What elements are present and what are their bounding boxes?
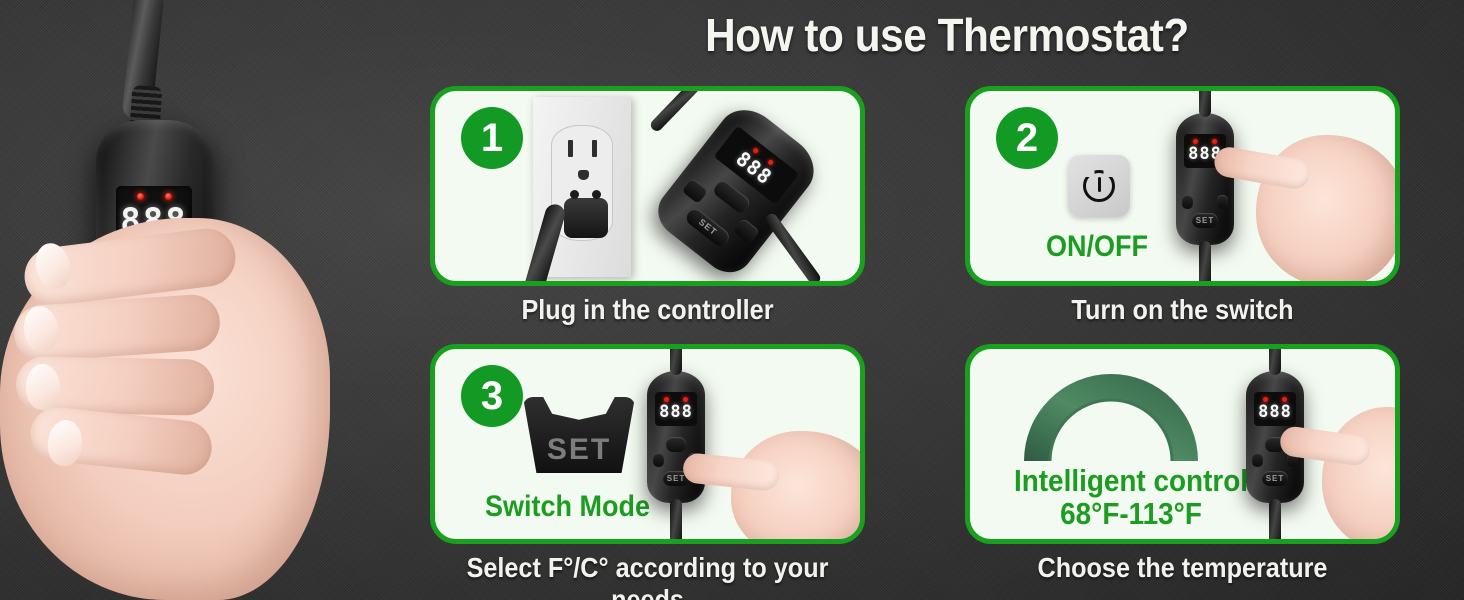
controller-set-button: SET — [1192, 213, 1218, 228]
power-bar — [1098, 177, 1101, 192]
step-1-card: 1 — [430, 86, 865, 286]
controller-down-button — [1252, 453, 1264, 468]
controller-display-value: 888 — [659, 404, 693, 421]
steps-row-top: 1 — [430, 86, 1440, 336]
led-indicator-icon — [137, 193, 144, 200]
controller-cord-lower — [1199, 241, 1211, 286]
step-2-caption: Turn on the switch — [987, 294, 1379, 326]
outlet-slot — [592, 140, 597, 157]
page-title: How to use Thermostat? — [471, 8, 1422, 62]
step-4: Intelligent control 68°F-113°F 888 SET — [965, 344, 1400, 600]
step-1: 1 — [430, 86, 865, 336]
step-3-inline-label: Switch Mode — [485, 491, 650, 523]
step-2-controller: 888 SET — [1176, 113, 1234, 245]
outlet-slot — [568, 140, 573, 157]
controller-down-button — [1182, 195, 1194, 210]
step-1-badge: 1 — [461, 107, 523, 169]
controller-down-button — [653, 453, 665, 468]
step-3-card: 3 SET Switch Mode 888 — [430, 344, 865, 544]
controller-up-button — [1217, 195, 1229, 210]
pointing-hand — [1322, 407, 1400, 544]
controller-display: 888 — [655, 392, 697, 426]
controller-cord-lower — [1269, 499, 1281, 544]
step-3-badge: 3 — [461, 365, 523, 427]
step-4-card: Intelligent control 68°F-113°F 888 SET — [965, 344, 1400, 544]
plug-prong — [592, 190, 601, 199]
controller-cord-upper — [648, 86, 705, 133]
gauge-arc-icon — [1016, 365, 1206, 465]
steps-row-bottom: 3 SET Switch Mode 888 — [430, 344, 1440, 600]
controller-set-button: SET — [1262, 471, 1288, 486]
controller-cord — [763, 211, 822, 286]
step-2: 2 ON/OFF 888 — [965, 86, 1400, 336]
step-3: 3 SET Switch Mode 888 — [430, 344, 865, 600]
step-2-inline-label: ON/OFF — [1046, 231, 1148, 263]
controller-power-button — [666, 437, 687, 452]
hero-product-photo: 888 SET — [0, 0, 430, 600]
controller-cord-lower — [670, 499, 682, 544]
plug-icon — [564, 198, 608, 238]
outlet-ground-hole — [578, 170, 589, 180]
controller-cord-upper — [670, 344, 682, 375]
controller-display-value: 888 — [1258, 404, 1292, 421]
set-button-icon: SET — [523, 397, 635, 473]
steps-grid: 1 — [430, 86, 1440, 600]
hero-led-indicators — [116, 193, 192, 200]
step-2-badge: 2 — [996, 107, 1058, 169]
controller-cord-upper — [1269, 344, 1281, 375]
step-4-inline-label: Intelligent control 68°F-113°F — [1001, 465, 1262, 530]
power-button-icon — [1068, 155, 1130, 217]
controller-cord-upper — [1199, 86, 1211, 117]
step-2-card: 2 ON/OFF 888 — [965, 86, 1400, 286]
plug-prong — [570, 190, 579, 199]
step-3-caption: Select F°/C° according to your needs — [452, 552, 844, 600]
step-4-caption: Choose the temperature — [987, 552, 1379, 584]
controller-display: 888 — [1254, 392, 1296, 426]
set-button-icon-text: SET — [547, 433, 611, 467]
step-1-caption: Plug in the controller — [452, 294, 844, 326]
led-indicator-icon — [165, 193, 172, 200]
